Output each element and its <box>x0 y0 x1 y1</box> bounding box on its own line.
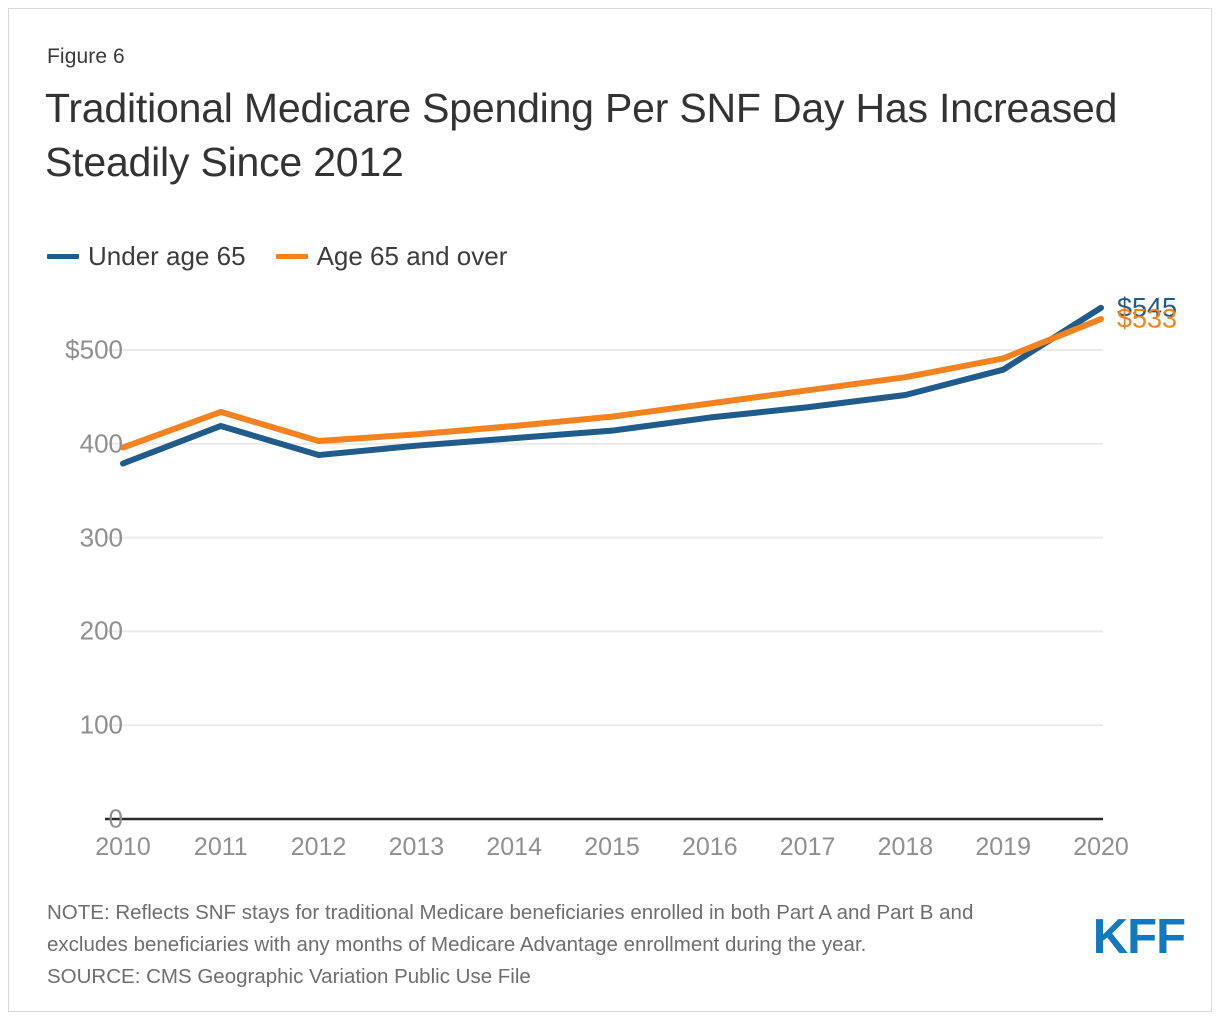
kff-logo: KFF <box>1093 909 1185 965</box>
x-axis-tick-label: 2013 <box>389 833 445 862</box>
x-axis-tick-label: 2012 <box>291 833 347 862</box>
x-axis-tick-label: 2018 <box>878 833 934 862</box>
y-axis-tick-label: 200 <box>80 616 123 647</box>
x-axis-tick-label: 2016 <box>682 833 738 862</box>
y-axis-tick-label: $500 <box>65 335 123 366</box>
note-line-2: excludes beneficiaries with any months o… <box>47 929 1067 961</box>
note-line-1: NOTE: Reflects SNF stays for traditional… <box>47 897 1067 929</box>
x-axis-tick-label: 2017 <box>780 833 836 862</box>
y-axis-tick-label: 300 <box>80 522 123 553</box>
x-axis-tick-label: 2014 <box>486 833 542 862</box>
x-axis-tick-label: 2020 <box>1073 833 1129 862</box>
x-axis-tick-label: 2015 <box>584 833 640 862</box>
x-axis-tick-label: 2019 <box>975 833 1031 862</box>
figure-container: Figure 6 Traditional Medicare Spending P… <box>8 8 1212 1012</box>
y-axis-tick-label: 100 <box>80 710 123 741</box>
y-axis-tick-label: 400 <box>80 428 123 459</box>
plot-area: 0100200300400$50020102011201220132014201… <box>9 9 1212 1012</box>
source-line: SOURCE: CMS Geographic Variation Public … <box>47 961 1067 993</box>
x-axis-tick-label: 2010 <box>95 833 151 862</box>
series-line[interactable] <box>123 308 1101 464</box>
x-axis-tick-label: 2011 <box>194 833 248 862</box>
y-axis-tick-label: 0 <box>109 804 123 835</box>
series-end-label: $533 <box>1117 304 1177 335</box>
footer-note: NOTE: Reflects SNF stays for traditional… <box>47 897 1067 992</box>
